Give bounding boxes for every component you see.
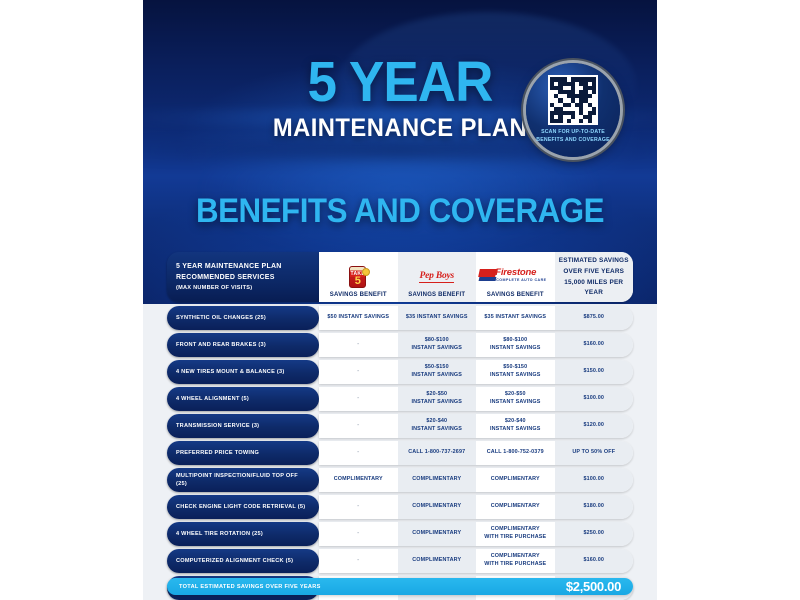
cell-line: $100.00 <box>583 395 604 403</box>
empty-value-dash: - <box>357 394 359 404</box>
qr-caption-line-1: SCAN FOR UP-TO-DATE <box>530 129 616 137</box>
row-value-cells: -$50-$150INSTANT SAVINGS$50-$150INSTANT … <box>319 360 633 384</box>
cell-line: COMPLIMENTARY <box>491 476 540 484</box>
cell-take5: - <box>319 441 398 465</box>
service-name-cell: CHECK ENGINE LIGHT CODE RETRIEVAL (5) <box>167 495 319 519</box>
cell-take5: - <box>319 495 398 519</box>
total-savings-value: $2,500.00 <box>566 579 621 594</box>
table-header-row: 5 YEAR MAINTENANCE PLAN RECOMMENDED SERV… <box>167 252 633 302</box>
cell-take5: - <box>319 360 398 384</box>
cell-estimated-savings: $150.00 <box>555 360 634 384</box>
cell-line: $80-$100 <box>503 337 527 345</box>
cell-line: $250.00 <box>583 530 604 538</box>
cell-estimated-savings: $100.00 <box>555 468 634 492</box>
cell-line: $160.00 <box>583 341 604 349</box>
pepboys-logo-wrap: Pep Boys <box>419 265 454 289</box>
row-value-cells: -$20-$50INSTANT SAVINGS$20-$50INSTANT SA… <box>319 387 633 411</box>
cell-estimated-savings: $160.00 <box>555 549 634 573</box>
cell-line: INSTANT SAVINGS <box>411 399 462 407</box>
cell-pepboys: $20-$50INSTANT SAVINGS <box>398 387 477 411</box>
header-label-line-1: 5 YEAR MAINTENANCE PLAN <box>176 262 282 273</box>
row-value-cells: -$80-$100INSTANT SAVINGS$80-$100INSTANT … <box>319 333 633 357</box>
empty-value-dash: - <box>357 367 359 377</box>
cell-estimated-savings: $100.00 <box>555 387 634 411</box>
qr-caption: SCAN FOR UP-TO-DATE BENEFITS AND COVERAG… <box>530 129 616 144</box>
cell-line: INSTANT SAVINGS <box>411 345 462 353</box>
cell-take5: - <box>319 414 398 438</box>
empty-value-dash: - <box>357 529 359 539</box>
cell-line: INSTANT SAVINGS <box>411 372 462 380</box>
table-row: 4 NEW TIRES MOUNT & BALANCE (3)-$50-$150… <box>167 360 633 384</box>
benefits-table: 5 YEAR MAINTENANCE PLAN RECOMMENDED SERV… <box>167 252 633 600</box>
row-value-cells: -$20-$40INSTANT SAVINGS$20-$40INSTANT SA… <box>319 414 633 438</box>
cell-line: INSTANT SAVINGS <box>490 372 541 380</box>
cell-line: $20-$50 <box>505 391 526 399</box>
total-savings-label: TOTAL ESTIMATED SAVINGS OVER FIVE YEARS <box>179 584 321 590</box>
cell-line: INSTANT SAVINGS <box>490 399 541 407</box>
cell-line: COMPLIMENTARY <box>412 503 461 511</box>
service-name-cell: 4 WHEEL ALIGNMENT (5) <box>167 387 319 411</box>
service-name-cell: COMPUTERIZED ALIGNMENT CHECK (5) <box>167 549 319 573</box>
row-value-cells: COMPLIMENTARYCOMPLIMENTARYCOMPLIMENTARY$… <box>319 468 633 492</box>
cell-take5: COMPLIMENTARY <box>319 468 398 492</box>
cell-line: $80-$100 <box>425 337 449 345</box>
cell-pepboys: $20-$40INSTANT SAVINGS <box>398 414 477 438</box>
firestone-blue-bar <box>479 277 497 281</box>
empty-value-dash: - <box>357 421 359 431</box>
cell-pepboys: COMPLIMENTARY <box>398 495 477 519</box>
firestone-logo-icon: Firestone COMPLETE AUTO CARE <box>479 267 551 287</box>
estimated-line-2: OVER FIVE YEARS <box>563 267 624 278</box>
qr-code-icon[interactable] <box>548 75 598 125</box>
cell-line: INSTANT SAVINGS <box>490 345 541 353</box>
row-value-cells: -CALL 1-800-737-2697CALL 1-800-752-0379U… <box>319 441 633 465</box>
take5-logo-icon: TAKE 5 <box>346 265 370 289</box>
table-row: MULTIPOINT INSPECTION/FLUID TOP OFF (25)… <box>167 468 633 492</box>
qr-badge[interactable]: SCAN FOR UP-TO-DATE BENEFITS AND COVERAG… <box>526 63 620 157</box>
cell-estimated-savings: $875.00 <box>555 306 634 330</box>
firestone-tagline: COMPLETE AUTO CARE <box>496 278 546 282</box>
table-body: SYNTHETIC OIL CHANGES (25)$50 INSTANT SA… <box>167 306 633 600</box>
header-label-line-3: (MAX NUMBER OF VISITS) <box>176 284 282 293</box>
table-row: 4 WHEEL TIRE ROTATION (25)-COMPLIMENTARY… <box>167 522 633 546</box>
cell-line: COMPLIMENTARY <box>412 557 461 565</box>
take5-logo-wrap: TAKE 5 <box>346 265 370 289</box>
cell-estimated-savings: UP TO 50% OFF <box>555 441 634 465</box>
cell-pepboys: $35 INSTANT SAVINGS <box>398 306 477 330</box>
row-value-cells: $50 INSTANT SAVINGS$35 INSTANT SAVINGS$3… <box>319 306 633 330</box>
pepboys-logo-icon: Pep Boys <box>419 271 454 283</box>
estimated-line-1: ESTIMATED SAVINGS <box>559 256 629 267</box>
cell-line: $50-$150 <box>425 364 449 372</box>
table-row: FRONT AND REAR BRAKES (3)-$80-$100INSTAN… <box>167 333 633 357</box>
cell-line: $20-$40 <box>505 418 526 426</box>
cell-line: COMPLIMENTARY <box>491 526 540 534</box>
section-heading: BENEFITS AND COVERAGE <box>164 192 637 231</box>
service-name-cell: MULTIPOINT INSPECTION/FLUID TOP OFF (25) <box>167 468 319 492</box>
cell-firestone: COMPLIMENTARYWITH TIRE PURCHASE <box>476 522 555 546</box>
firestone-wordmark: Firestone <box>495 267 536 278</box>
cell-line: $20-$50 <box>426 391 447 399</box>
cell-line: COMPLIMENTARY <box>491 553 540 561</box>
cell-pepboys: $50-$150INSTANT SAVINGS <box>398 360 477 384</box>
firestone-savings-benefit-label: SAVINGS BENEFIT <box>487 292 544 298</box>
cell-firestone: CALL 1-800-752-0379 <box>476 441 555 465</box>
cell-line: WITH TIRE PURCHASE <box>484 561 546 569</box>
table-header-label: 5 YEAR MAINTENANCE PLAN RECOMMENDED SERV… <box>167 252 319 302</box>
qr-caption-line-2: BENEFITS AND COVERAGE <box>530 137 616 145</box>
cell-firestone: $20-$40INSTANT SAVINGS <box>476 414 555 438</box>
cell-take5: - <box>319 387 398 411</box>
cell-line: $180.00 <box>583 503 604 511</box>
cell-firestone: $35 INSTANT SAVINGS <box>476 306 555 330</box>
cell-firestone: $80-$100INSTANT SAVINGS <box>476 333 555 357</box>
cell-line: $35 INSTANT SAVINGS <box>484 314 546 322</box>
cell-line: $120.00 <box>583 422 604 430</box>
cell-firestone: COMPLIMENTARY <box>476 495 555 519</box>
maintenance-plan-poster: 5 YEAR MAINTENANCE PLAN BENEFITS AND COV… <box>143 0 657 600</box>
cell-line: $160.00 <box>583 557 604 565</box>
service-name-cell: FRONT AND REAR BRAKES (3) <box>167 333 319 357</box>
cell-line: $875.00 <box>583 314 604 322</box>
cell-firestone: $50-$150INSTANT SAVINGS <box>476 360 555 384</box>
cell-line: COMPLIMENTARY <box>412 530 461 538</box>
cell-take5: - <box>319 549 398 573</box>
cell-line: CALL 1-800-752-0379 <box>487 449 544 457</box>
column-header-pepboys: Pep Boys SAVINGS BENEFIT <box>398 252 477 302</box>
cell-pepboys: CALL 1-800-737-2697 <box>398 441 477 465</box>
table-row: SYNTHETIC OIL CHANGES (25)$50 INSTANT SA… <box>167 306 633 330</box>
cell-estimated-savings: $250.00 <box>555 522 634 546</box>
cell-pepboys: $80-$100INSTANT SAVINGS <box>398 333 477 357</box>
service-name-cell: SYNTHETIC OIL CHANGES (25) <box>167 306 319 330</box>
cell-firestone: COMPLIMENTARYWITH TIRE PURCHASE <box>476 549 555 573</box>
empty-value-dash: - <box>357 448 359 458</box>
pepboys-savings-benefit-label: SAVINGS BENEFIT <box>408 292 465 298</box>
service-name-cell: 4 WHEEL TIRE ROTATION (25) <box>167 522 319 546</box>
cell-estimated-savings: $180.00 <box>555 495 634 519</box>
cell-line: COMPLIMENTARY <box>412 476 461 484</box>
table-row: COMPUTERIZED ALIGNMENT CHECK (5)-COMPLIM… <box>167 549 633 573</box>
row-value-cells: -COMPLIMENTARYCOMPLIMENTARY$180.00 <box>319 495 633 519</box>
cell-line: $50 INSTANT SAVINGS <box>327 314 389 322</box>
cell-line: $100.00 <box>583 476 604 484</box>
cell-take5: $50 INSTANT SAVINGS <box>319 306 398 330</box>
cell-firestone: COMPLIMENTARY <box>476 468 555 492</box>
cell-line: INSTANT SAVINGS <box>411 426 462 434</box>
oil-can-spout-icon <box>362 268 370 276</box>
take5-five-text: 5 <box>350 276 365 287</box>
empty-value-dash: - <box>357 340 359 350</box>
row-value-cells: -COMPLIMENTARYCOMPLIMENTARYWITH TIRE PUR… <box>319 522 633 546</box>
cell-firestone: $20-$50INSTANT SAVINGS <box>476 387 555 411</box>
cell-pepboys: COMPLIMENTARY <box>398 468 477 492</box>
cell-line: COMPLIMENTARY <box>334 476 383 484</box>
header-label-line-2: RECOMMENDED SERVICES <box>176 273 282 284</box>
take5-savings-benefit-label: SAVINGS BENEFIT <box>330 292 387 298</box>
cell-line: WITH TIRE PURCHASE <box>484 534 546 542</box>
table-row: TRANSMISSION SERVICE (3)-$20-$40INSTANT … <box>167 414 633 438</box>
column-header-firestone: Firestone COMPLETE AUTO CARE SAVINGS BEN… <box>476 252 555 302</box>
column-header-take5: TAKE 5 SAVINGS BENEFIT <box>319 252 398 302</box>
table-header-cells: TAKE 5 SAVINGS BENEFIT Pep Boys SAVINGS … <box>319 252 633 302</box>
cell-line: UP TO 50% OFF <box>572 449 615 457</box>
total-savings-bar: TOTAL ESTIMATED SAVINGS OVER FIVE YEARS … <box>167 578 633 595</box>
table-row: 4 WHEEL ALIGNMENT (5)-$20-$50INSTANT SAV… <box>167 387 633 411</box>
row-value-cells: -COMPLIMENTARYCOMPLIMENTARYWITH TIRE PUR… <box>319 549 633 573</box>
service-name-cell: TRANSMISSION SERVICE (3) <box>167 414 319 438</box>
cell-line: CALL 1-800-737-2697 <box>408 449 465 457</box>
cell-estimated-savings: $160.00 <box>555 333 634 357</box>
cell-pepboys: COMPLIMENTARY <box>398 549 477 573</box>
cell-take5: - <box>319 333 398 357</box>
service-name-cell: PREFERRED PRICE TOWING <box>167 441 319 465</box>
service-name-cell: 4 NEW TIRES MOUNT & BALANCE (3) <box>167 360 319 384</box>
cell-line: INSTANT SAVINGS <box>490 426 541 434</box>
cell-line: $35 INSTANT SAVINGS <box>406 314 468 322</box>
empty-value-dash: - <box>357 556 359 566</box>
cell-estimated-savings: $120.00 <box>555 414 634 438</box>
firestone-logo-wrap: Firestone COMPLETE AUTO CARE <box>479 265 551 289</box>
cell-line: $50-$150 <box>503 364 527 372</box>
table-row: PREFERRED PRICE TOWING-CALL 1-800-737-26… <box>167 441 633 465</box>
cell-line: COMPLIMENTARY <box>491 503 540 511</box>
estimated-line-3: 15,000 MILES PER YEAR <box>557 278 632 300</box>
cell-line: $20-$40 <box>426 418 447 426</box>
cell-pepboys: COMPLIMENTARY <box>398 522 477 546</box>
table-row: CHECK ENGINE LIGHT CODE RETRIEVAL (5)-CO… <box>167 495 633 519</box>
column-header-estimated-savings: ESTIMATED SAVINGS OVER FIVE YEARS 15,000… <box>555 252 634 302</box>
empty-value-dash: - <box>357 502 359 512</box>
cell-take5: - <box>319 522 398 546</box>
cell-line: $150.00 <box>583 368 604 376</box>
